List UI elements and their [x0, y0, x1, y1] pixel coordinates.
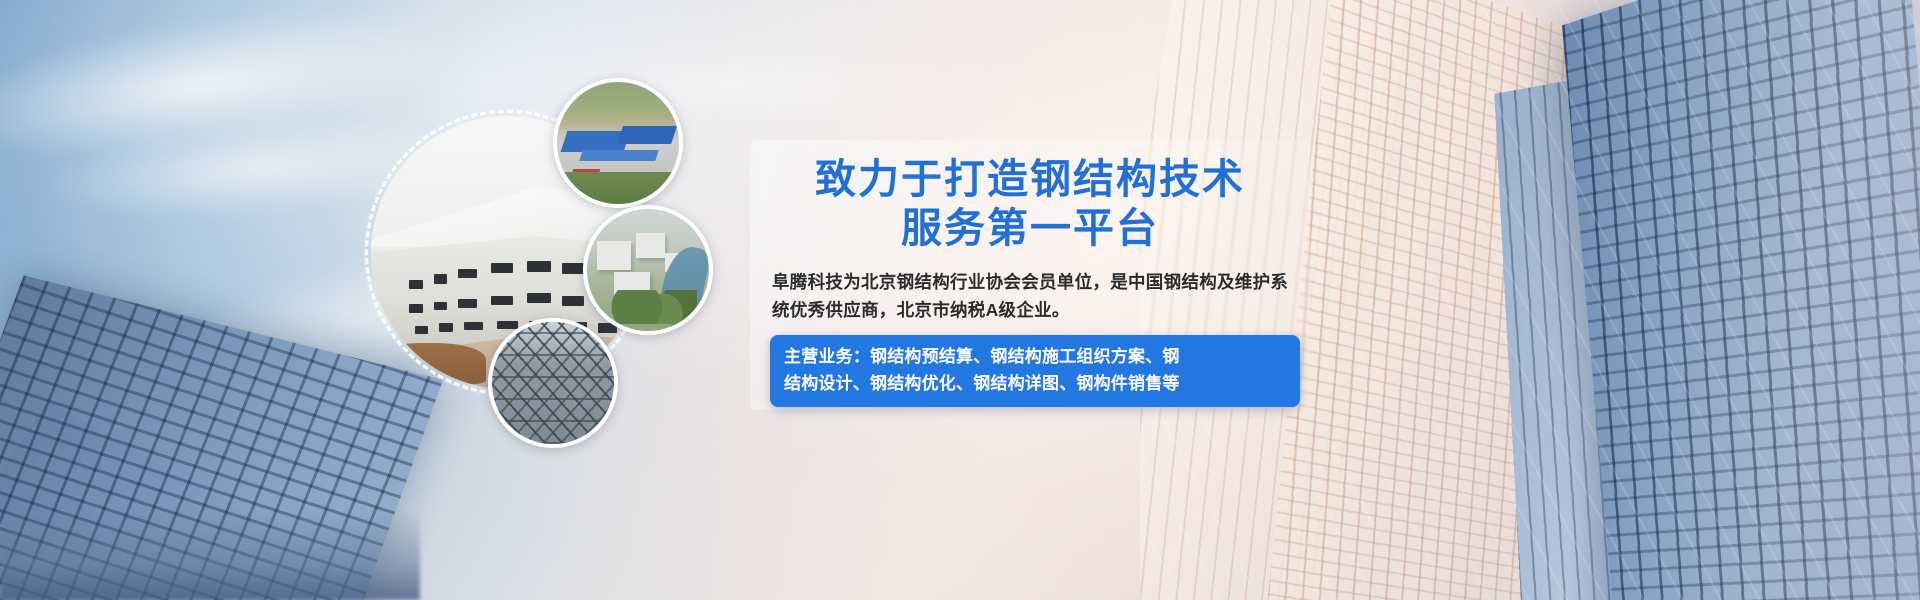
- headline-line-2: 服务第一平台: [750, 204, 1310, 253]
- headline-line-1: 致力于打造钢结构技术: [815, 155, 1245, 203]
- blue-glass-tower: [1562, 0, 1920, 600]
- thumb-photo-steel-truss: [488, 318, 618, 448]
- thumb-photo-campus: [583, 205, 713, 335]
- hero-banner: 致力于打造钢结构技术 服务第一平台 阜腾科技为北京钢结构行业协会会员单位，是中国…: [0, 0, 1920, 600]
- services-badge-line-1: 主营业务：钢结构预结算、钢结构施工组织方案、钢: [784, 343, 1286, 370]
- services-badge-line-2: 结构设计、钢结构优化、钢结构详图、钢构件销售等: [784, 370, 1286, 397]
- banner-description: 阜腾科技为北京钢结构行业协会会员单位，是中国钢结构及维护系统优秀供应商，北京市纳…: [772, 268, 1300, 324]
- thumb-photo-factory: [553, 78, 683, 208]
- photo-circle-cluster: [0, 0, 760, 600]
- banner-headline: 致力于打造钢结构技术 服务第一平台: [750, 155, 1310, 253]
- services-badge: 主营业务：钢结构预结算、钢结构施工组织方案、钢 结构设计、钢结构优化、钢结构详图…: [770, 335, 1300, 407]
